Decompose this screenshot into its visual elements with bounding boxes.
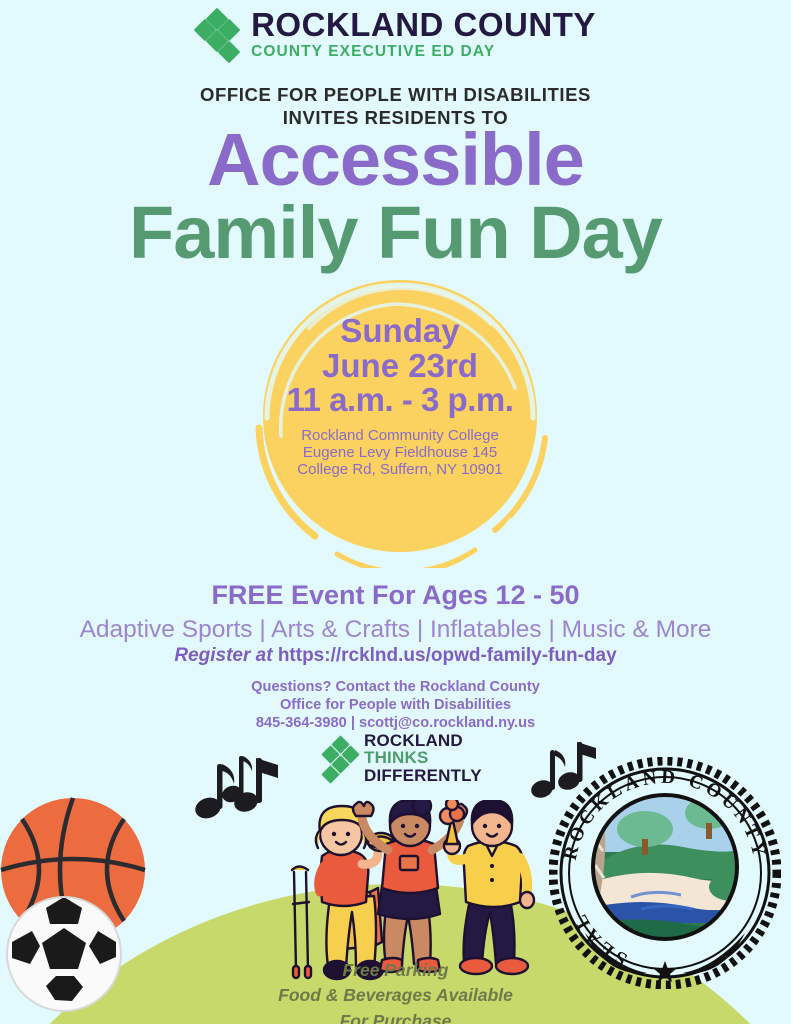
bottom-note-1: Free Parking: [0, 958, 791, 983]
register-label: Register at: [174, 645, 272, 666]
register-url[interactable]: https://rcklnd.us/opwd-family-fun-day: [278, 645, 617, 666]
green-diamond-grid-icon: [322, 738, 358, 778]
event-flyer: ROCKLAND COUNTY COUNTY EXECUTIVE ED DAY …: [0, 0, 791, 1024]
activities-line: Adaptive Sports | Arts & Crafts | Inflat…: [0, 616, 791, 644]
bottom-note-3: For Purchase: [0, 1009, 791, 1024]
headline-line-2: Family Fun Day: [0, 197, 791, 270]
music-notes-icon: [186, 742, 282, 829]
headline-line-1: Accessible: [0, 124, 791, 197]
event-time: 11 a.m. - 3 p.m.: [245, 383, 555, 418]
event-day: Sunday: [245, 314, 555, 349]
contact-line-2: Office for People with Disabilities: [0, 696, 791, 714]
contact-block: Questions? Contact the Rockland County O…: [0, 678, 791, 733]
person-seated-with-crutches: [292, 806, 394, 979]
event-date: June 23rd: [245, 349, 555, 384]
registration-line[interactable]: Register at https://rcklnd.us/opwd-famil…: [0, 645, 791, 667]
contact-line-1: Questions? Contact the Rockland County: [0, 678, 791, 696]
person-with-ice-cream: [440, 800, 534, 974]
venue-line-3: College Rd, Suffern, NY 10901: [245, 462, 555, 479]
page-title: Accessible Family Fun Day: [0, 124, 791, 269]
sun-graphic: Sunday June 23rd 11 a.m. - 3 p.m. Rockla…: [245, 268, 555, 568]
free-event-line: FREE Event For Ages 12 - 50: [0, 580, 791, 611]
td-row-2: THINKS: [364, 749, 482, 766]
kicker-line-1: OFFICE FOR PEOPLE WITH DISABILITIES: [0, 83, 791, 106]
rockland-county-logo: ROCKLAND COUNTY COUNTY EXECUTIVE ED DAY: [0, 8, 791, 60]
venue-line-2: Eugene Levy Fieldhouse 145: [245, 445, 555, 462]
td-row-3: DIFFERENTLY: [364, 767, 482, 784]
green-diamond-grid-icon: [195, 11, 241, 57]
bottom-notes: Free Parking Food & Beverages Available …: [0, 958, 791, 1024]
td-row-1: ROCKLAND: [364, 732, 482, 749]
contact-line-3[interactable]: 845-364-3980 | scottj@co.rockland.ny.us: [0, 714, 791, 732]
bottom-note-2: Food & Beverages Available: [0, 983, 791, 1008]
rockland-thinks-differently-logo: ROCKLAND THINKS DIFFERENTLY: [322, 732, 482, 784]
brand-subtitle: COUNTY EXECUTIVE ED DAY: [251, 44, 596, 60]
venue-line-1: Rockland Community College: [245, 428, 555, 445]
brand-title: ROCKLAND COUNTY: [251, 8, 596, 41]
